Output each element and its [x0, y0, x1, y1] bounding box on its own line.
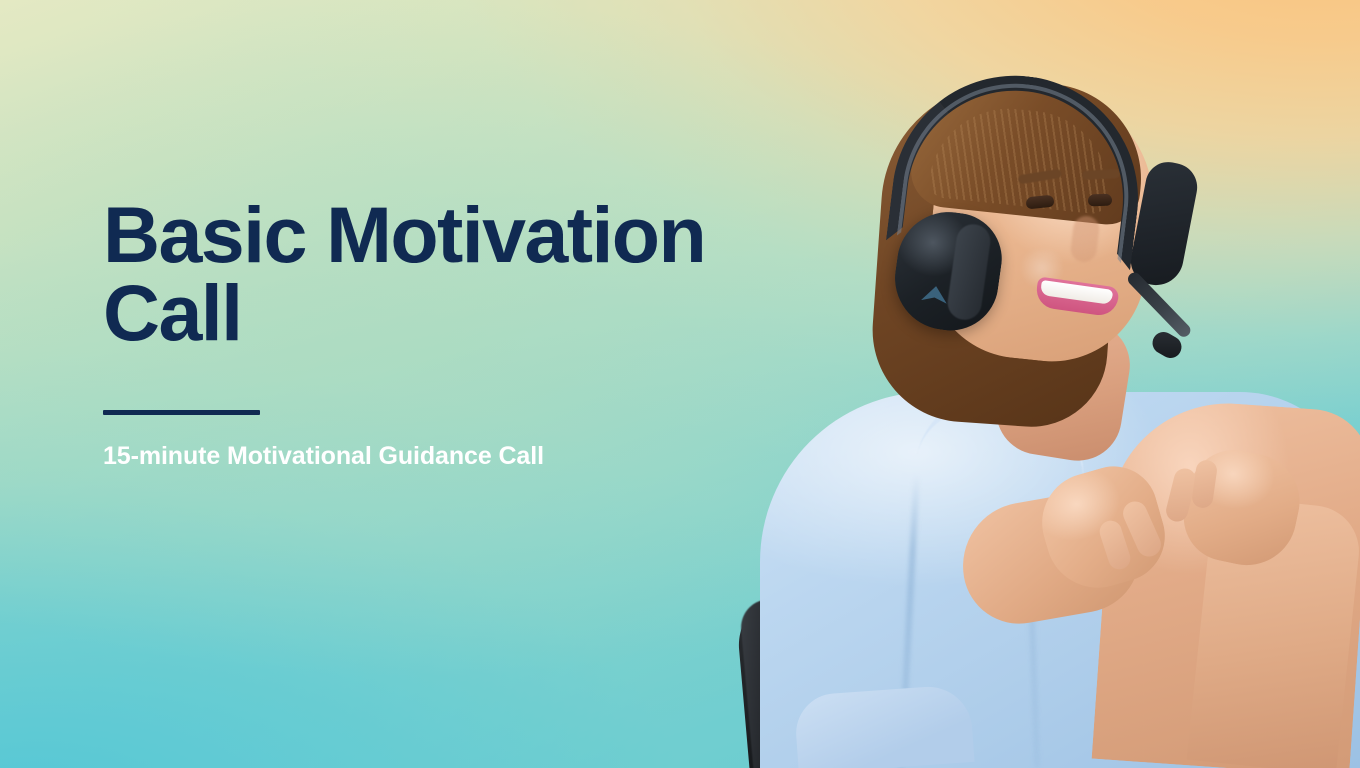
blouse-sleeve-cuff	[793, 684, 974, 768]
title-divider	[103, 410, 260, 415]
page-subtitle: 15-minute Motivational Guidance Call	[103, 441, 763, 471]
banner-copy: Basic Motivation Call 15-minute Motivati…	[103, 196, 763, 471]
promo-banner: Basic Motivation Call 15-minute Motivati…	[0, 0, 1360, 768]
page-title: Basic Motivation Call	[103, 196, 763, 352]
subject-photo	[700, 0, 1360, 768]
